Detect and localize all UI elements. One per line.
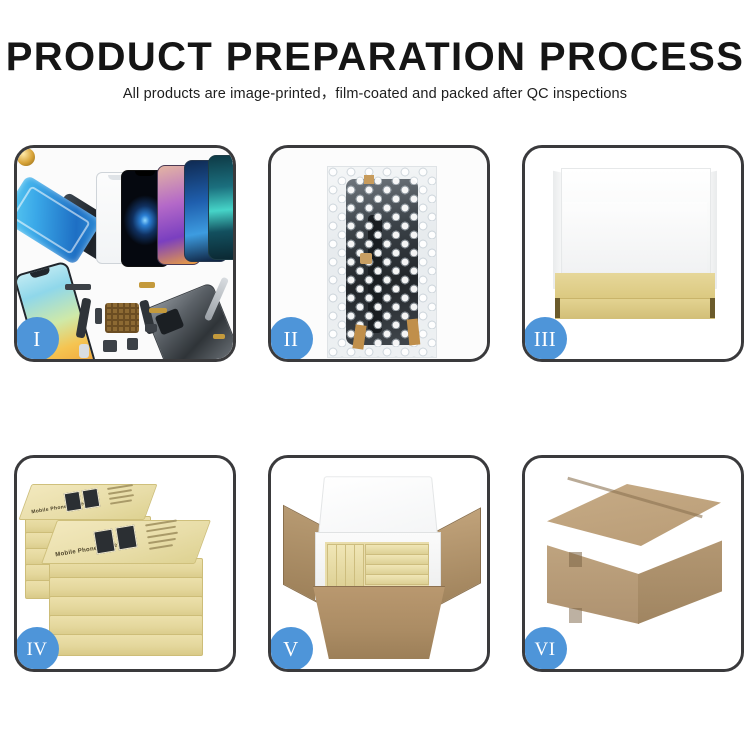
process-step-card-6[interactable]: VI bbox=[522, 455, 744, 672]
step-badge-6-label: VI bbox=[534, 640, 555, 659]
carton-tape-1 bbox=[569, 552, 582, 567]
process-step-card-1[interactable]: I bbox=[14, 145, 236, 362]
tape-piece-2 bbox=[360, 253, 372, 264]
small-part-3 bbox=[95, 308, 102, 324]
step-badge-3-label: III bbox=[534, 329, 556, 350]
carton-tape-2 bbox=[569, 608, 582, 623]
yellow-box-4 bbox=[354, 544, 364, 590]
carton-front-face bbox=[547, 528, 639, 624]
kraft-box-front-shape bbox=[555, 298, 715, 319]
step-badge-1-label: I bbox=[33, 329, 41, 350]
process-step-card-5[interactable]: V bbox=[268, 455, 490, 672]
process-step-card-4[interactable]: Mobile Phone Spare Parts Mobile Phone Sp… bbox=[14, 455, 236, 672]
process-step-card-3[interactable]: III bbox=[522, 145, 744, 362]
gold-component-shape bbox=[17, 148, 35, 166]
header: PRODUCT PREPARATION PROCESS All products… bbox=[0, 34, 750, 104]
page-title: PRODUCT PREPARATION PROCESS bbox=[0, 34, 750, 80]
page-subtitle: All products are image-printed，film-coat… bbox=[0, 84, 750, 104]
box-slab-f5 bbox=[49, 634, 203, 656]
small-part-4 bbox=[145, 324, 157, 332]
process-step-card-2[interactable]: II bbox=[268, 145, 490, 362]
small-part-2 bbox=[139, 282, 155, 288]
small-part-5 bbox=[149, 308, 167, 313]
small-part-1 bbox=[65, 284, 91, 290]
yellow-box-8 bbox=[365, 574, 429, 585]
carton-side-face bbox=[638, 528, 722, 624]
carton-body-shape bbox=[313, 586, 445, 659]
bubble-texture bbox=[328, 167, 436, 357]
small-part-6 bbox=[79, 344, 89, 358]
step-badge-3: III bbox=[523, 317, 567, 361]
step-badge-5: V bbox=[269, 627, 313, 671]
step-badge-1: I bbox=[15, 317, 59, 361]
product-preparation-process-page: PRODUCT PREPARATION PROCESS All products… bbox=[0, 0, 750, 750]
process-steps-grid: I II bbox=[14, 145, 742, 672]
bubble-bag-shape bbox=[327, 166, 437, 358]
small-part-8 bbox=[127, 338, 138, 350]
box-chip-rear-2 bbox=[82, 488, 101, 509]
kraft-box-right-edge bbox=[710, 298, 715, 318]
small-part-7 bbox=[103, 340, 117, 352]
tape-piece-1 bbox=[364, 175, 374, 184]
foam-sheet-shape bbox=[563, 202, 707, 272]
step-badge-6: VI bbox=[523, 627, 567, 671]
yellow-boxes-group bbox=[325, 542, 429, 590]
kraft-box-left-edge bbox=[555, 298, 560, 318]
box-chip-front-1 bbox=[93, 529, 115, 555]
teal-phone-shape bbox=[208, 155, 233, 260]
screw-grid-shape bbox=[105, 303, 139, 333]
step-badge-4: IV bbox=[15, 627, 59, 671]
small-part-9 bbox=[213, 334, 225, 339]
step-badge-2-label: II bbox=[284, 329, 299, 350]
box-chip-front-2 bbox=[115, 525, 137, 551]
step-badge-5-label: V bbox=[283, 639, 299, 660]
step-badge-2: II bbox=[269, 317, 313, 361]
foam-box-lid-shape bbox=[318, 476, 439, 539]
box-chip-rear-1 bbox=[64, 491, 83, 512]
step-badge-4-label: IV bbox=[26, 640, 47, 659]
